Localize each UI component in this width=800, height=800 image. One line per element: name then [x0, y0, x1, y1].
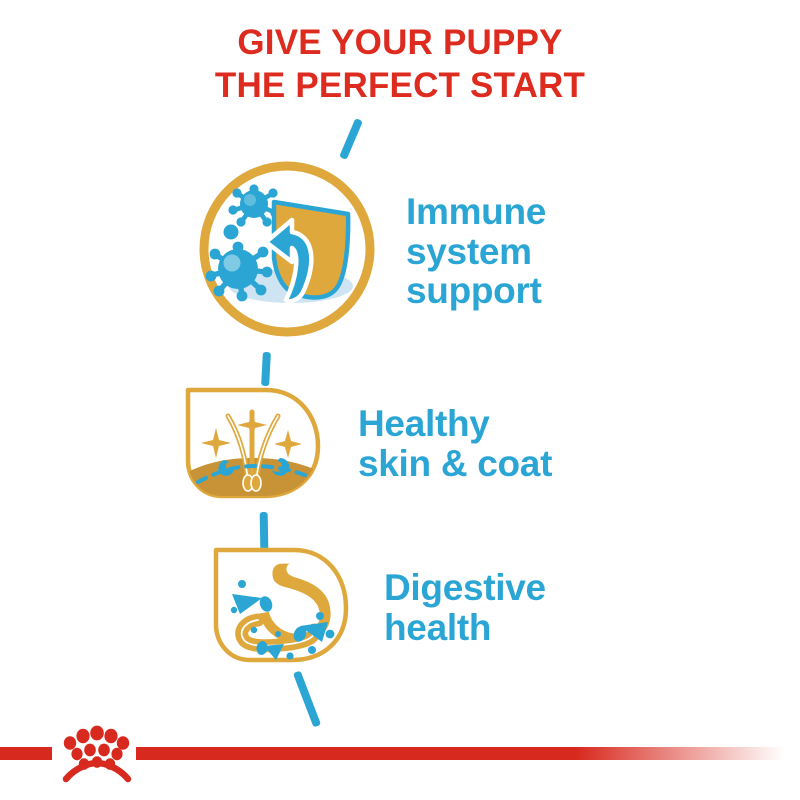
dashed-connector-segment-bottom [293, 670, 321, 727]
page-title-line-2: THE PERFECT START [0, 65, 800, 108]
hair-follicle-skin-icon [176, 378, 328, 504]
benefit-item-digestive: Digestive health [204, 538, 546, 677]
benefit-label-digestive: Digestive health [384, 568, 546, 647]
benefit-label-immune: Immune system support [406, 192, 546, 311]
benefit-item-skin-coat: Healthy skin & coat [176, 378, 552, 509]
benefit-icon-immune [196, 158, 378, 345]
benefit-item-immune: Immune system support [196, 158, 546, 345]
promo-infographic-page: GIVE YOUR PUPPY THE PERFECT START [0, 0, 800, 800]
crown-logo-glyph [52, 723, 136, 785]
dashed-connector-segment-top [339, 118, 363, 160]
royal-canin-crown-logo [52, 723, 136, 785]
immune-shield-icon [196, 158, 378, 340]
virus-glyph-lower [206, 242, 273, 302]
page-title-line-1: GIVE YOUR PUPPY [0, 22, 800, 65]
brand-rule-bar-left [0, 747, 56, 760]
stomach-intestine-icon [204, 538, 356, 672]
benefit-icon-digestive [204, 538, 356, 677]
benefit-label-skin-coat: Healthy skin & coat [358, 404, 552, 483]
benefit-icon-skin-coat [176, 378, 328, 509]
page-title: GIVE YOUR PUPPY THE PERFECT START [0, 22, 800, 107]
